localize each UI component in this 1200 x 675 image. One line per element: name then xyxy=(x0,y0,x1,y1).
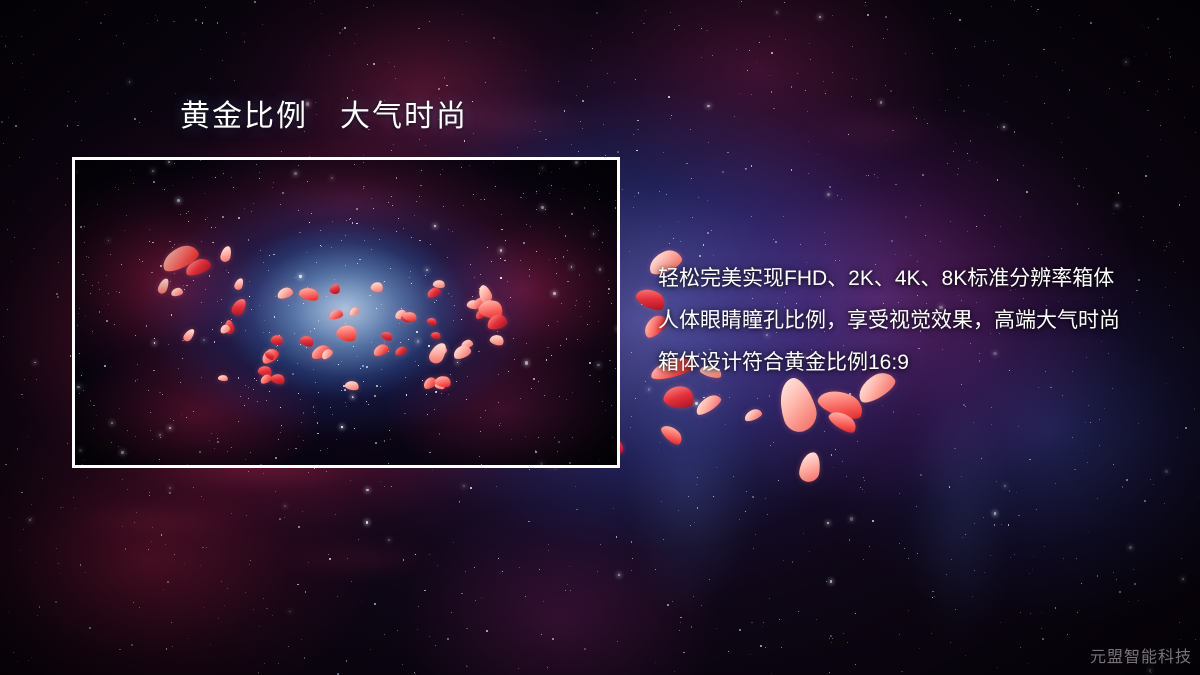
star xyxy=(617,328,620,331)
framed-nebula-image xyxy=(72,157,620,468)
star xyxy=(533,465,534,466)
slide-canvas: 黄金比例 大气时尚 轻松完美实现FHD、2K、4K、8K标准分辨率箱体 人体眼睛… xyxy=(0,0,1200,675)
framed-image-vignette xyxy=(75,160,617,465)
star xyxy=(122,466,123,467)
star xyxy=(472,467,473,468)
body-line-3: 箱体设计符合黄金比例16:9 xyxy=(658,342,1178,384)
star xyxy=(619,455,620,456)
body-line-1: 轻松完美实现FHD、2K、4K、8K标准分辨率箱体 xyxy=(658,258,1178,300)
page-title: 黄金比例 大气时尚 xyxy=(180,102,468,132)
star xyxy=(619,222,620,223)
watermark-brand: 元盟智能科技 xyxy=(1090,643,1192,667)
body-copy-block: 轻松完美实现FHD、2K、4K、8K标准分辨率箱体 人体眼睛瞳孔比例，享受视觉效… xyxy=(658,258,1178,384)
star xyxy=(405,468,406,469)
body-line-2: 人体眼睛瞳孔比例，享受视觉效果，高端大气时尚 xyxy=(658,300,1178,342)
star xyxy=(617,357,618,358)
star xyxy=(383,466,384,467)
